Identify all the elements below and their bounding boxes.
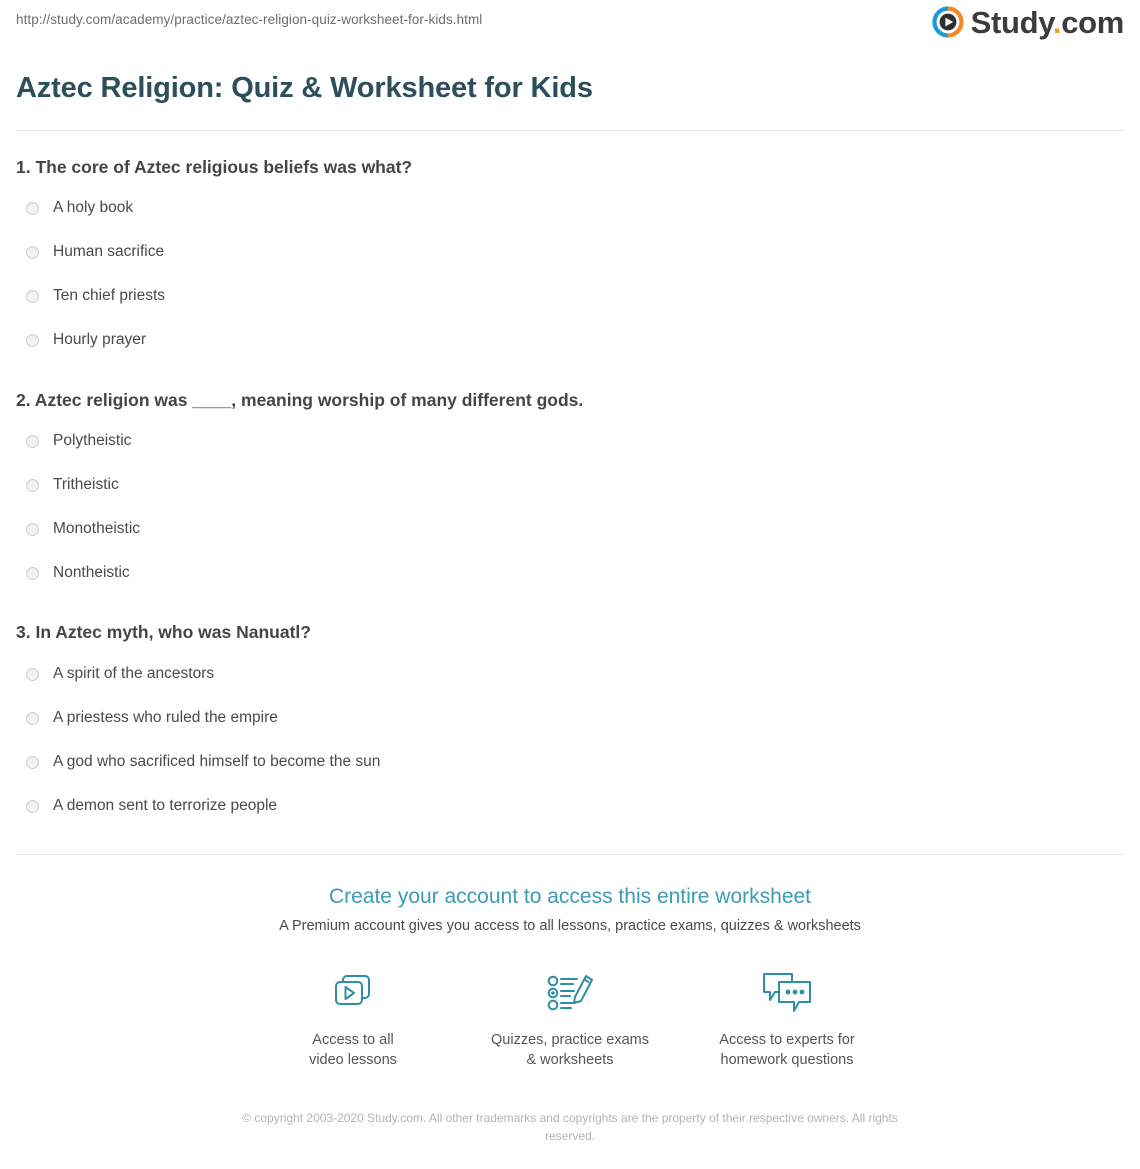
option-row[interactable]: Tritheistic [16,463,1124,507]
question-block: 2. Aztec religion was ____, meaning wors… [16,389,1124,596]
radio-button-icon[interactable] [26,800,39,813]
option-row[interactable]: A holy book [16,187,1124,231]
question-text: 2. Aztec religion was ____, meaning wors… [16,389,1124,412]
option-label: A priestess who ruled the empire [53,709,278,728]
radio-button-icon[interactable] [26,479,39,492]
option-row[interactable]: A god who sacrificed himself to become t… [16,740,1124,784]
logo-tld: com [1061,5,1124,40]
feature-list: Access to all video lessons [16,969,1124,1071]
radio-button-icon[interactable] [26,712,39,725]
option-label: Nontheistic [53,564,130,583]
logo-name: Study [971,5,1053,40]
copyright-notice: © copyright 2003-2020 Study.com. All oth… [220,1109,920,1146]
option-label: A demon sent to terrorize people [53,797,277,816]
feature-item: Access to all video lessons [245,969,462,1071]
cta-title-link[interactable]: Create your account to access this entir… [16,883,1124,910]
video-lessons-icon [245,969,462,1017]
option-row[interactable]: Monotheistic [16,507,1124,551]
cta-subtitle: A Premium account gives you access to al… [16,916,1124,936]
radio-button-icon[interactable] [26,334,39,347]
question-text: 1. The core of Aztec religious beliefs w… [16,156,1124,179]
options-list: A holy book Human sacrifice Ten chief pr… [16,187,1124,363]
quiz-questions: 1. The core of Aztec religious beliefs w… [16,131,1124,828]
options-list: A spirit of the ancestors A priestess wh… [16,652,1124,828]
feature-label: Access to all video lessons [245,1030,462,1071]
play-circle-icon [932,6,964,38]
feature-item: Access to experts for homework questions [679,969,896,1071]
radio-button-icon[interactable] [26,246,39,259]
create-account-cta: Create your account to access this entir… [16,855,1124,1071]
page-header: http://study.com/academy/practice/aztec-… [16,0,1124,58]
option-row[interactable]: A priestess who ruled the empire [16,696,1124,740]
feature-label: Quizzes, practice exams & worksheets [462,1030,679,1071]
radio-button-icon[interactable] [26,756,39,769]
option-label: Monotheistic [53,520,140,539]
option-row[interactable]: Nontheistic [16,551,1124,595]
option-row[interactable]: Ten chief priests [16,275,1124,319]
feature-item: Quizzes, practice exams & worksheets [462,969,679,1071]
radio-button-icon[interactable] [26,523,39,536]
worksheet-page: http://study.com/academy/practice/aztec-… [0,0,1140,1169]
chat-bubbles-icon [679,969,896,1017]
question-block: 3. In Aztec myth, who was Nanuatl? A spi… [16,621,1124,828]
option-row[interactable]: Hourly prayer [16,319,1124,363]
radio-button-icon[interactable] [26,202,39,215]
feature-label: Access to experts for homework questions [679,1030,896,1071]
radio-button-icon[interactable] [26,567,39,580]
question-text: 3. In Aztec myth, who was Nanuatl? [16,621,1124,644]
option-row[interactable]: A spirit of the ancestors [16,652,1124,696]
option-row[interactable]: Human sacrifice [16,231,1124,275]
radio-button-icon[interactable] [26,290,39,303]
option-row[interactable]: Polytheistic [16,419,1124,463]
option-label: A spirit of the ancestors [53,665,214,684]
option-label: Tritheistic [53,476,119,495]
study-com-logo[interactable]: Study.com [932,6,1124,38]
logo-dot: . [1053,5,1061,40]
option-row[interactable]: A demon sent to terrorize people [16,784,1124,828]
options-list: Polytheistic Tritheistic Monotheistic No… [16,419,1124,595]
quiz-pencil-icon [462,969,679,1017]
page-title: Aztec Religion: Quiz & Worksheet for Kid… [16,71,1124,106]
option-label: Ten chief priests [53,287,165,306]
radio-button-icon[interactable] [26,435,39,448]
radio-button-icon[interactable] [26,668,39,681]
option-label: Polytheistic [53,432,131,451]
option-label: Hourly prayer [53,331,146,350]
option-label: Human sacrifice [53,243,164,262]
option-label: A god who sacrificed himself to become t… [53,753,380,772]
page-url: http://study.com/academy/practice/aztec-… [16,12,482,27]
question-block: 1. The core of Aztec religious beliefs w… [16,156,1124,363]
logo-wordmark: Study.com [971,7,1124,38]
option-label: A holy book [53,199,133,218]
